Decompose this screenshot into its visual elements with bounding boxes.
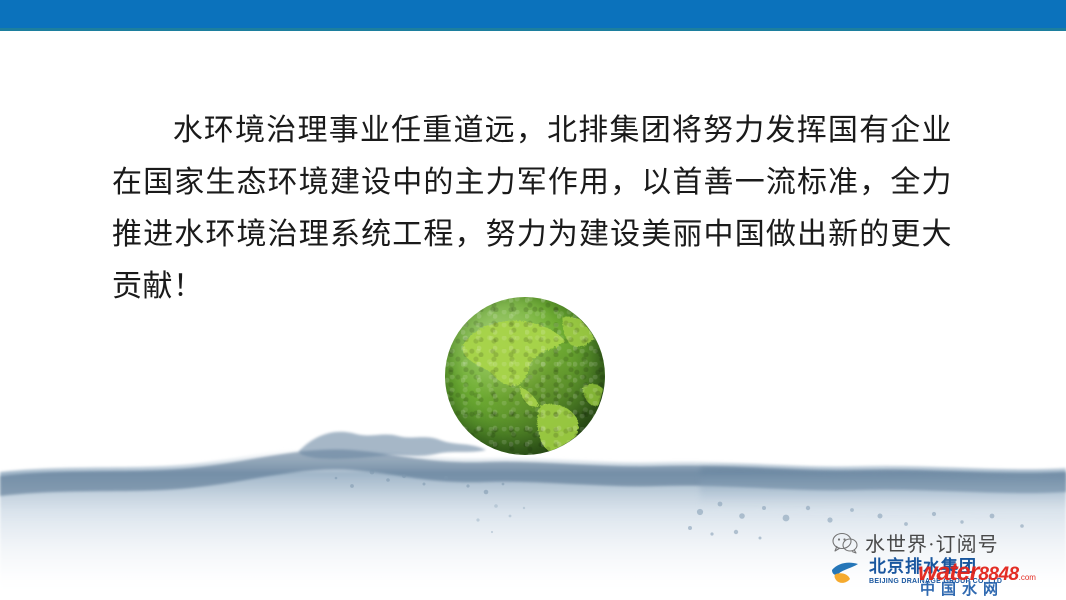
- bdg-swoosh-logo-icon: [830, 556, 864, 586]
- presentation-slide: 水环境治理事业任重道远，北排集团将努力发挥国有企业在国家生态环境建设中的主力军作…: [0, 0, 1066, 600]
- slide-body-text: 水环境治理事业任重道远，北排集团将努力发挥国有企业在国家生态环境建设中的主力军作…: [112, 105, 952, 313]
- water8848-suffix: .com: [1019, 573, 1036, 582]
- top-banner: [0, 0, 1066, 28]
- wechat-bubble-icon: [832, 532, 858, 554]
- wechat-account-label: 水世界·订阅号: [865, 528, 999, 557]
- top-banner-rule: [0, 28, 1066, 31]
- watermark-wechat: 水世界·订阅号: [832, 528, 999, 557]
- watermark-zhongguo-shuiwang: 中国水网: [920, 578, 1004, 599]
- paragraph-text: 水环境治理事业任重道远，北排集团将努力发挥国有企业在国家生态环境建设中的主力军作…: [112, 114, 952, 303]
